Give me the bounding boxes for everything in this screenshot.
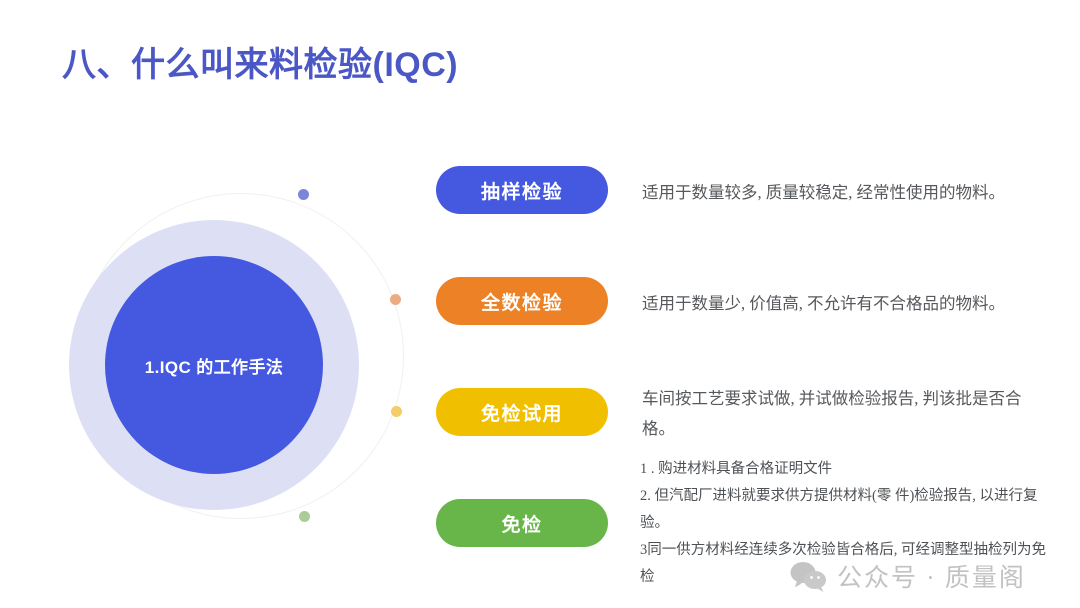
note-line: 2. 但汽配厂进料就要求供方提供材料(零 件)检验报告, 以进行复验。 xyxy=(640,483,1048,537)
method-description-trial: 车间按工艺要求试做, 并试做检验报告, 判该批是否合格。 xyxy=(642,384,1042,444)
orbit-dot-green-icon xyxy=(299,511,310,522)
method-pill-sampling[interactable]: 抽样检验 xyxy=(436,166,608,214)
orbit-dot-yellow-icon xyxy=(391,406,402,417)
method-pill-exempt[interactable]: 免检 xyxy=(436,499,608,547)
method-pill-full[interactable]: 全数检验 xyxy=(436,277,608,325)
note-line: 1 . 购进材料具备合格证明文件 xyxy=(640,456,1048,483)
method-description-full: 适用于数量少, 价值高, 不允许有不合格品的物料。 xyxy=(642,289,1042,319)
slide-canvas: 八、什么叫来料检验(IQC) 1.IQC 的工作手法 抽样检验 全数检验 免检试… xyxy=(0,0,1080,608)
orbit-dot-orange-icon xyxy=(390,294,401,305)
method-description-sampling: 适用于数量较多, 质量较稳定, 经常性使用的物料。 xyxy=(642,178,1042,208)
orbit-dot-blue-icon xyxy=(298,189,309,200)
iqc-circle-diagram: 1.IQC 的工作手法 xyxy=(60,175,420,535)
circle-label: 1.IQC 的工作手法 xyxy=(145,353,284,378)
method-pill-trial[interactable]: 免检试用 xyxy=(436,388,608,436)
note-line: 3同一供方材料经连续多次检验皆合格后, 可经调整型抽检列为免检 xyxy=(640,537,1048,591)
page-title: 八、什么叫来料检验(IQC) xyxy=(62,44,458,87)
circle-inner-disc: 1.IQC 的工作手法 xyxy=(105,256,323,474)
exempt-notes-list: 1 . 购进材料具备合格证明文件 2. 但汽配厂进料就要求供方提供材料(零 件)… xyxy=(640,456,1048,591)
